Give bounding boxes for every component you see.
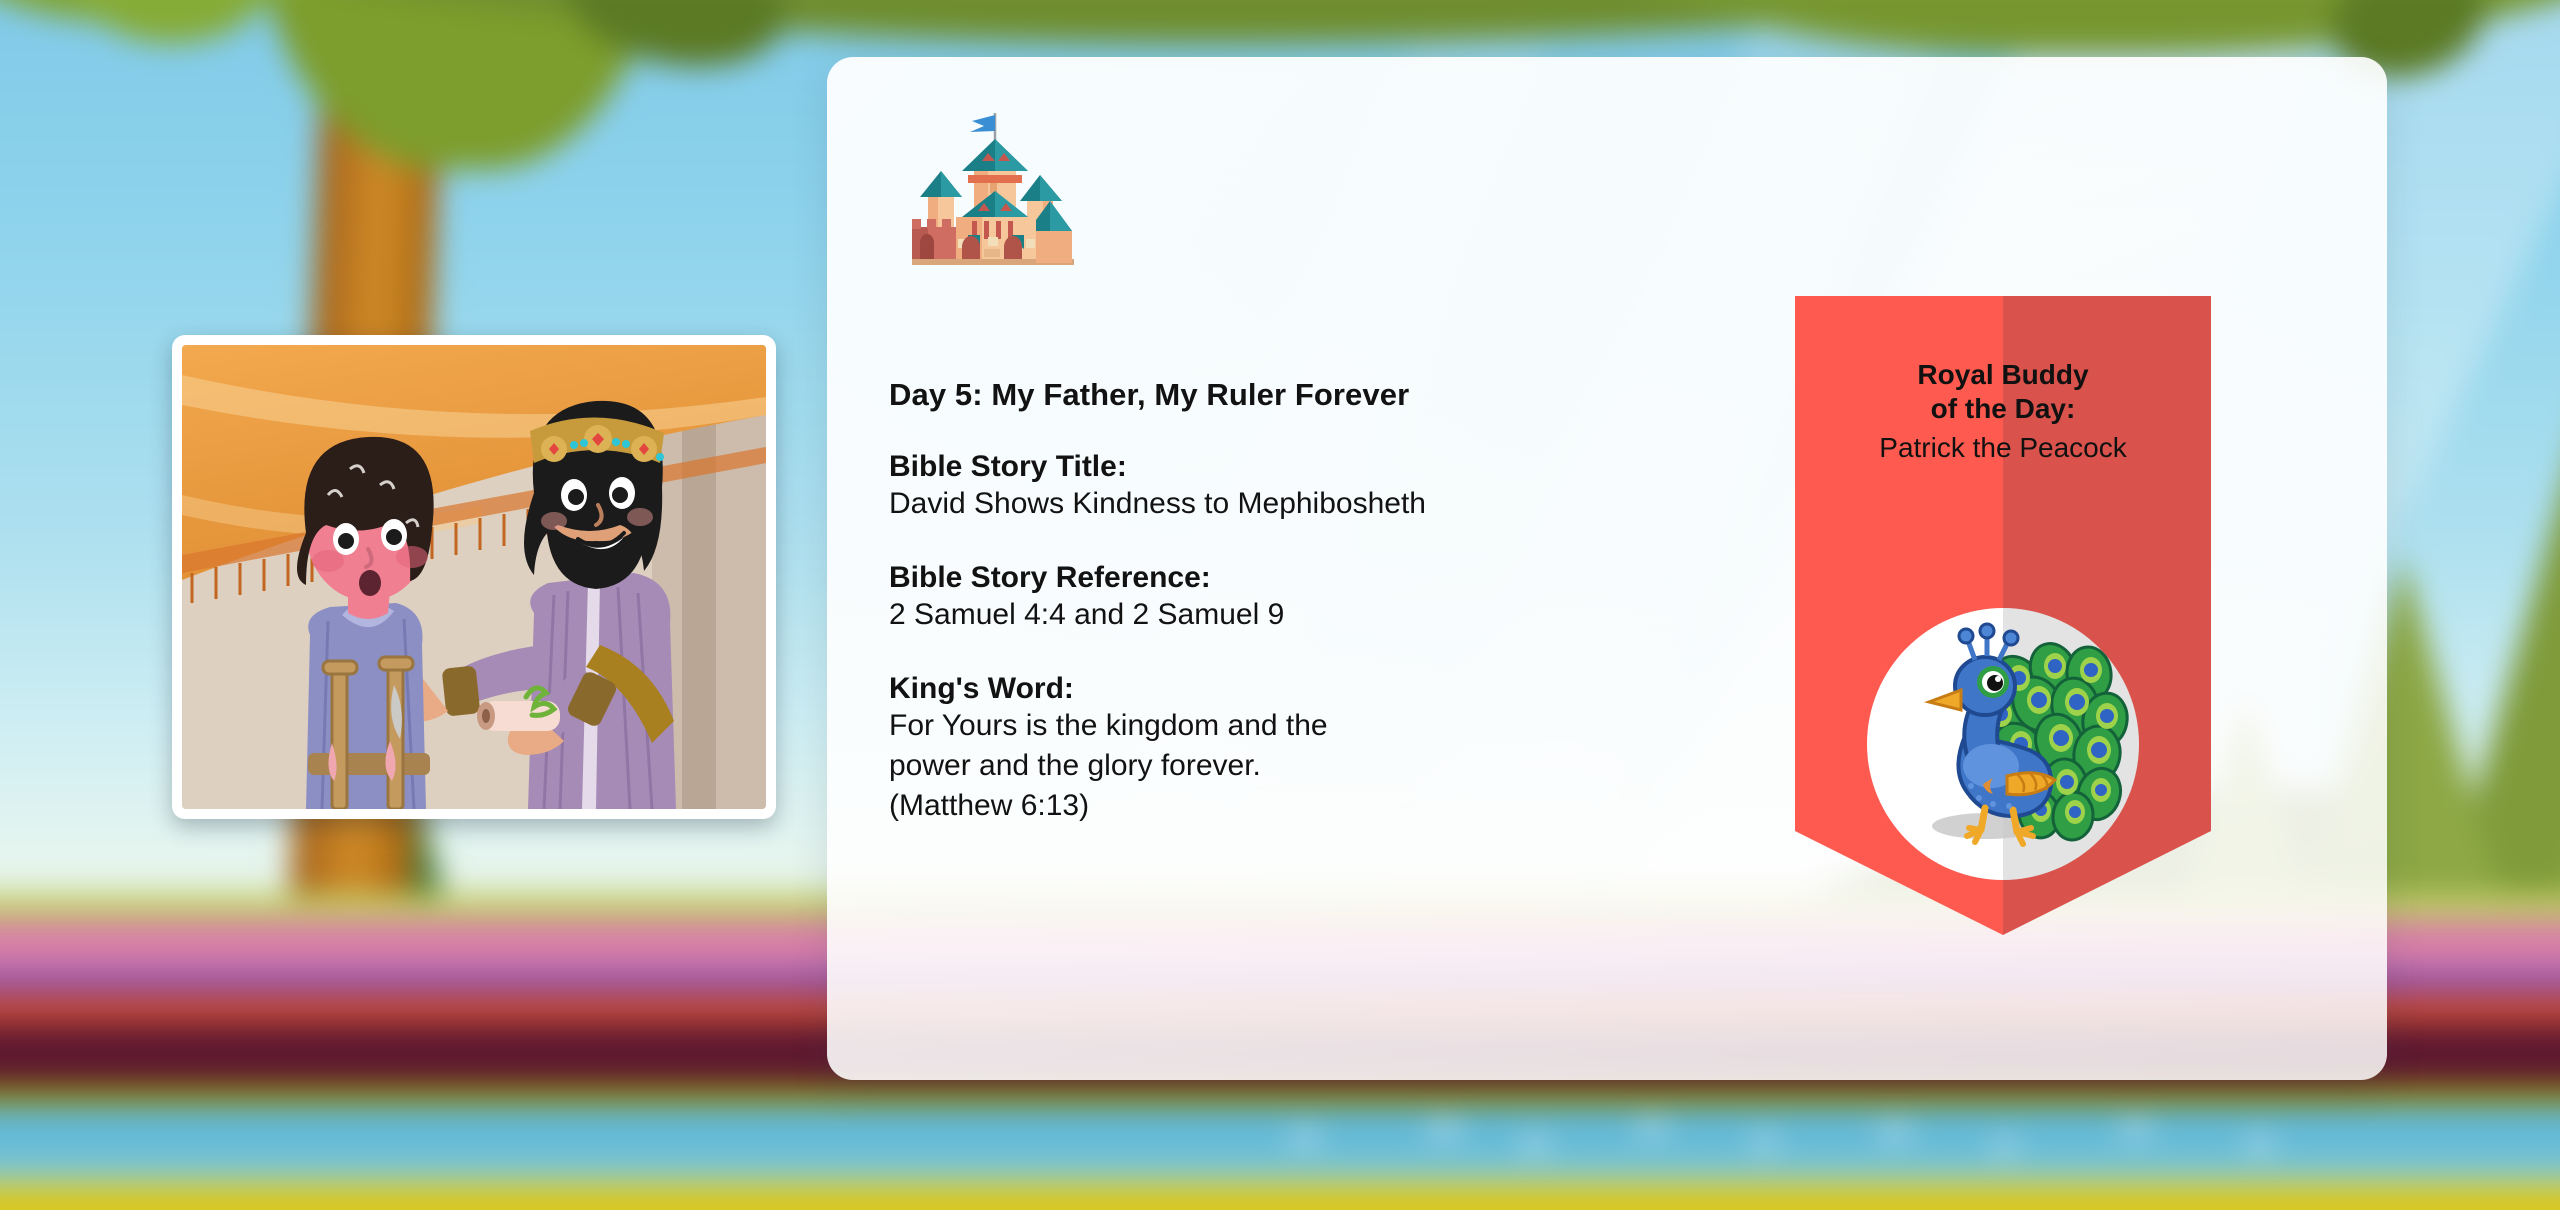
- castle-illustration: [900, 109, 1090, 269]
- water-sparkle: [1290, 1131, 1319, 1144]
- bible-story-reference-label: Bible Story Reference:: [889, 561, 1679, 595]
- royal-buddy-name: Patrick the Peacock: [1795, 432, 2211, 464]
- peacock-icon: [1867, 608, 2139, 880]
- kings-word-value: For Yours is the kingdom and the power a…: [889, 706, 1679, 826]
- royal-buddy-heading: Royal Buddy of the Day: Patrick the Peac…: [1795, 296, 2211, 464]
- lesson-card: Day 5: My Father, My Ruler Forever Bible…: [827, 57, 2387, 1080]
- water-sparkle: [1427, 1123, 1463, 1136]
- royal-buddy-avatar: [1867, 608, 2139, 880]
- ground-band: [0, 1188, 2560, 1210]
- royal-buddy-heading-line2: of the Day:: [1795, 392, 2211, 426]
- page-title: Day 5: My Father, My Ruler Forever: [889, 377, 1679, 413]
- kings-word-block: King's Word: For Yours is the kingdom an…: [889, 672, 1679, 826]
- water-sparkle: [1521, 1137, 1548, 1150]
- bible-story-illustration: [182, 345, 766, 809]
- water-sparkle: [2120, 1123, 2152, 1136]
- royal-buddy-heading-line1: Royal Buddy: [1795, 358, 2211, 392]
- royal-buddy-banner: Royal Buddy of the Day: Patrick the Peac…: [1795, 296, 2211, 935]
- castle-icon: [900, 109, 1090, 269]
- day-title-block: Day 5: My Father, My Ruler Forever: [889, 377, 1679, 413]
- bible-story-reference-block: Bible Story Reference: 2 Samuel 4:4 and …: [889, 561, 1679, 635]
- water-sparkle: [1994, 1139, 2017, 1152]
- story-image-card: [172, 335, 776, 819]
- bible-story-title-value: David Shows Kindness to Mephibosheth: [889, 484, 1679, 524]
- water-sparkle: [1878, 1125, 1912, 1138]
- water-sparkle: [2246, 1137, 2273, 1150]
- water-sparkle: [1637, 1121, 1669, 1134]
- bible-story-title-block: Bible Story Title: David Shows Kindness …: [889, 450, 1679, 524]
- bible-story-reference-value: 2 Samuel 4:4 and 2 Samuel 9: [889, 595, 1679, 635]
- lesson-text-column: Day 5: My Father, My Ruler Forever Bible…: [889, 377, 1679, 825]
- kings-word-label: King's Word:: [889, 672, 1679, 706]
- bible-story-title-label: Bible Story Title:: [889, 450, 1679, 484]
- story-illustration: [182, 345, 766, 809]
- water-sparkle: [1752, 1135, 1777, 1148]
